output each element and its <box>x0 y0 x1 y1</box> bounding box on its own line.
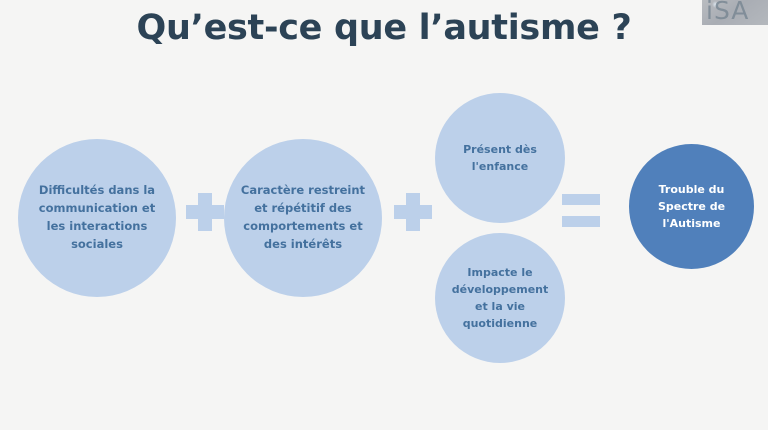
criterion-circle-childhood: Présent dès l'enfance <box>435 93 565 223</box>
equals-bar-bottom <box>562 216 600 227</box>
plus-icon-2 <box>394 193 432 231</box>
criterion-label-childhood: Présent dès l'enfance <box>455 141 545 175</box>
page-title: Qu’est-ce que l’autisme ? <box>0 8 768 48</box>
slide-canvas: iSA Qu’est-ce que l’autisme ? Difficulté… <box>0 0 768 430</box>
criterion-label-daily-life: Impacte le développement et la vie quoti… <box>444 264 557 332</box>
equals-bar-top <box>562 194 600 205</box>
result-label: Trouble du Spectre de l'Autisme <box>650 181 733 232</box>
criterion-label-behaviour: Caractère restreint et répétitif des com… <box>233 182 373 253</box>
plus-bar-vertical <box>406 193 420 231</box>
criterion-circle-behaviour: Caractère restreint et répétitif des com… <box>224 139 382 297</box>
result-circle-autism-spectrum-disorder: Trouble du Spectre de l'Autisme <box>629 144 754 269</box>
criterion-circle-communication: Difficultés dans la communication et les… <box>18 139 176 297</box>
plus-bar-vertical <box>198 193 212 231</box>
criterion-circle-daily-life: Impacte le développement et la vie quoti… <box>435 233 565 363</box>
criterion-label-communication: Difficultés dans la communication et les… <box>31 182 163 253</box>
plus-icon-1 <box>186 193 224 231</box>
equals-icon <box>562 194 600 227</box>
